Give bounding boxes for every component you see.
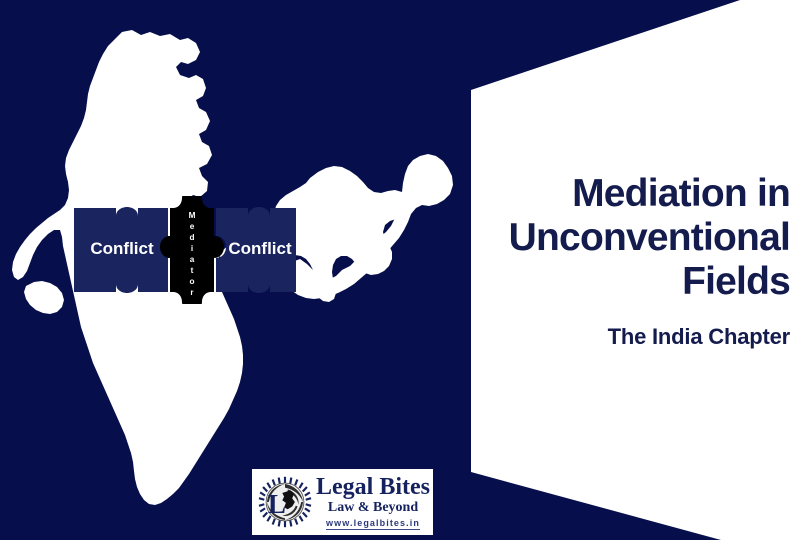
title-line-1: Mediation in (370, 172, 790, 216)
puzzle-label-conflict-right: Conflict (228, 239, 292, 258)
logo-tagline: Law & Beyond (328, 501, 418, 515)
svg-text:M: M (189, 211, 196, 220)
emblem-letter-l: L (268, 489, 286, 519)
svg-text:d: d (189, 233, 194, 242)
poster-canvas: Conflict M e d i a t o r Conflict Mediat… (0, 0, 800, 540)
puzzle-graphic: Conflict M e d i a t o r Conflict (60, 196, 305, 304)
legal-bites-emblem-icon: L (258, 475, 312, 529)
svg-text:a: a (190, 255, 195, 264)
logo-name: Legal Bites (316, 475, 430, 499)
title-block: Mediation in Unconventional Fields The I… (370, 172, 790, 350)
brand-logo: L Legal Bites Law & Beyond www.legalbite… (252, 469, 433, 535)
svg-text:e: e (190, 222, 195, 231)
logo-wordmark: Legal Bites Law & Beyond www.legalbites.… (316, 475, 430, 530)
title-line-2: Unconventional (370, 216, 790, 260)
svg-text:t: t (191, 266, 194, 275)
title-subtitle: The India Chapter (370, 324, 790, 350)
title-line-3: Fields (370, 260, 790, 304)
puzzle-label-conflict-left: Conflict (90, 239, 154, 258)
logo-url: www.legalbites.in (326, 519, 420, 530)
india-west-coast-islands-shape (24, 281, 64, 314)
svg-text:o: o (189, 277, 194, 286)
svg-text:i: i (191, 244, 193, 253)
